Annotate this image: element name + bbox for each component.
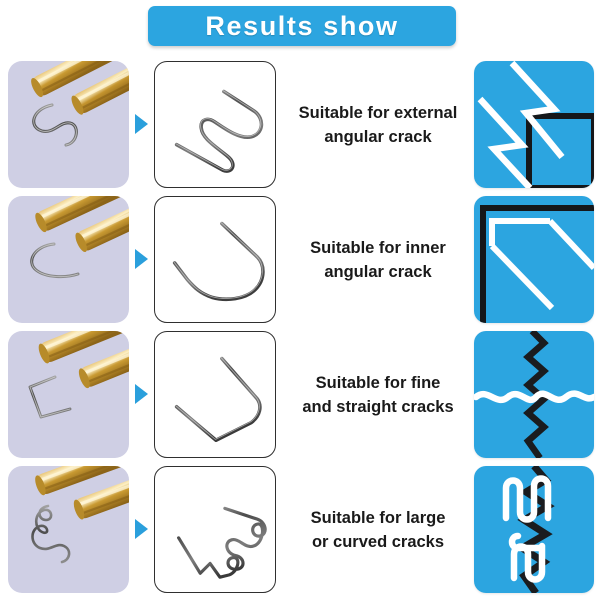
caption-line-2: angular crack — [324, 263, 431, 281]
results-show-infographic: Results show — [0, 0, 600, 600]
fine-straight-crack-illustration — [474, 331, 594, 458]
caption-line-2: or curved cracks — [312, 533, 444, 551]
arrow-right-icon — [133, 248, 149, 270]
result-caption: Suitable for large or curved cracks — [286, 463, 470, 598]
coil-staple-card — [154, 466, 276, 593]
result-row: Suitable for fine and straight cracks — [0, 328, 600, 463]
result-row: Suitable for inner angular crack — [0, 193, 600, 328]
welding-rods-with-wave-staple-photo — [8, 61, 129, 188]
caption-line-1: Suitable for large — [311, 509, 446, 527]
large-curved-crack-illustration — [474, 466, 594, 593]
caption-line-1: Suitable for external — [299, 104, 458, 122]
caption-line-2: and straight cracks — [302, 398, 453, 416]
inner-angular-crack-illustration — [474, 196, 594, 323]
result-row: Suitable for large or curved cracks — [0, 463, 600, 598]
wave-staple-card — [154, 61, 276, 188]
u-staple-card — [154, 331, 276, 458]
arrow-right-icon — [133, 113, 149, 135]
arrow-right-icon — [133, 518, 149, 540]
caption-line-1: Suitable for fine — [316, 374, 441, 392]
result-caption: Suitable for inner angular crack — [286, 193, 470, 328]
caption-line-1: Suitable for inner — [310, 239, 446, 257]
page-title-banner: Results show — [148, 6, 456, 46]
arrow-right-icon — [133, 383, 149, 405]
page-title: Results show — [205, 13, 398, 40]
external-angular-crack-illustration — [474, 61, 594, 188]
welding-rods-with-coil-staple-photo — [8, 466, 129, 593]
welding-rods-with-v-staple-photo — [8, 196, 129, 323]
result-row: Suitable for external angular crack — [0, 58, 600, 193]
welding-rods-with-u-staple-photo — [8, 331, 129, 458]
v-staple-card — [154, 196, 276, 323]
result-caption: Suitable for external angular crack — [286, 58, 470, 193]
result-caption: Suitable for fine and straight cracks — [286, 328, 470, 463]
caption-line-2: angular crack — [324, 128, 431, 146]
